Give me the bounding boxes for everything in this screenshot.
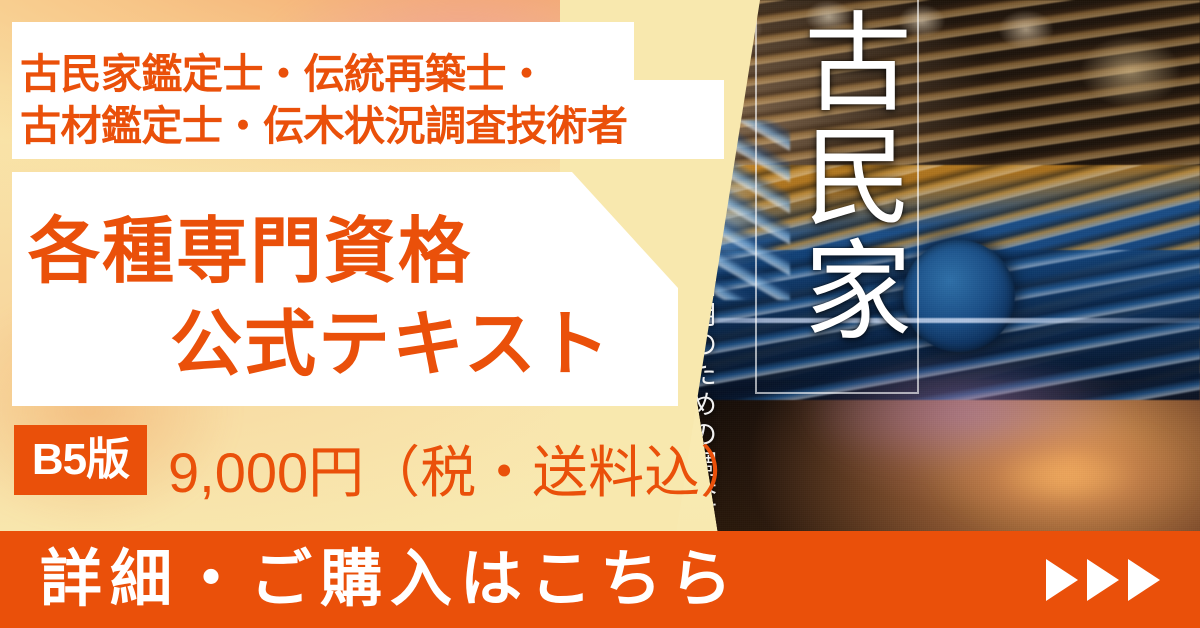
chevron-right-icon <box>1046 559 1078 601</box>
cta-label: 詳細・ご購入はこちら <box>40 531 740 628</box>
chevron-right-icon <box>1128 559 1160 601</box>
format-badge: B5版 <box>14 425 147 495</box>
cta-bar[interactable]: 詳細・ご購入はこちら <box>0 531 1200 628</box>
chevron-right-icon <box>1087 559 1119 601</box>
headline-line-2: 古材鑑定士・伝木状況調査技術者 <box>20 92 628 152</box>
subhead-line-1: 各種専門資格 <box>28 192 472 297</box>
price-text: 9,000円（税・送料込） <box>168 428 756 509</box>
subhead-line-2: 公式テキスト <box>170 285 612 390</box>
headline-line-1: 古民家鑑定士・伝統再築士・ <box>20 40 547 100</box>
cover-title-text: 古民家 <box>760 6 910 348</box>
promo-banner: 古民家 伝統構法 古民家活用のための調査と再生の 古民家鑑定士・伝統再築士・ 古… <box>0 0 1200 628</box>
cta-arrow-group <box>1046 531 1160 628</box>
